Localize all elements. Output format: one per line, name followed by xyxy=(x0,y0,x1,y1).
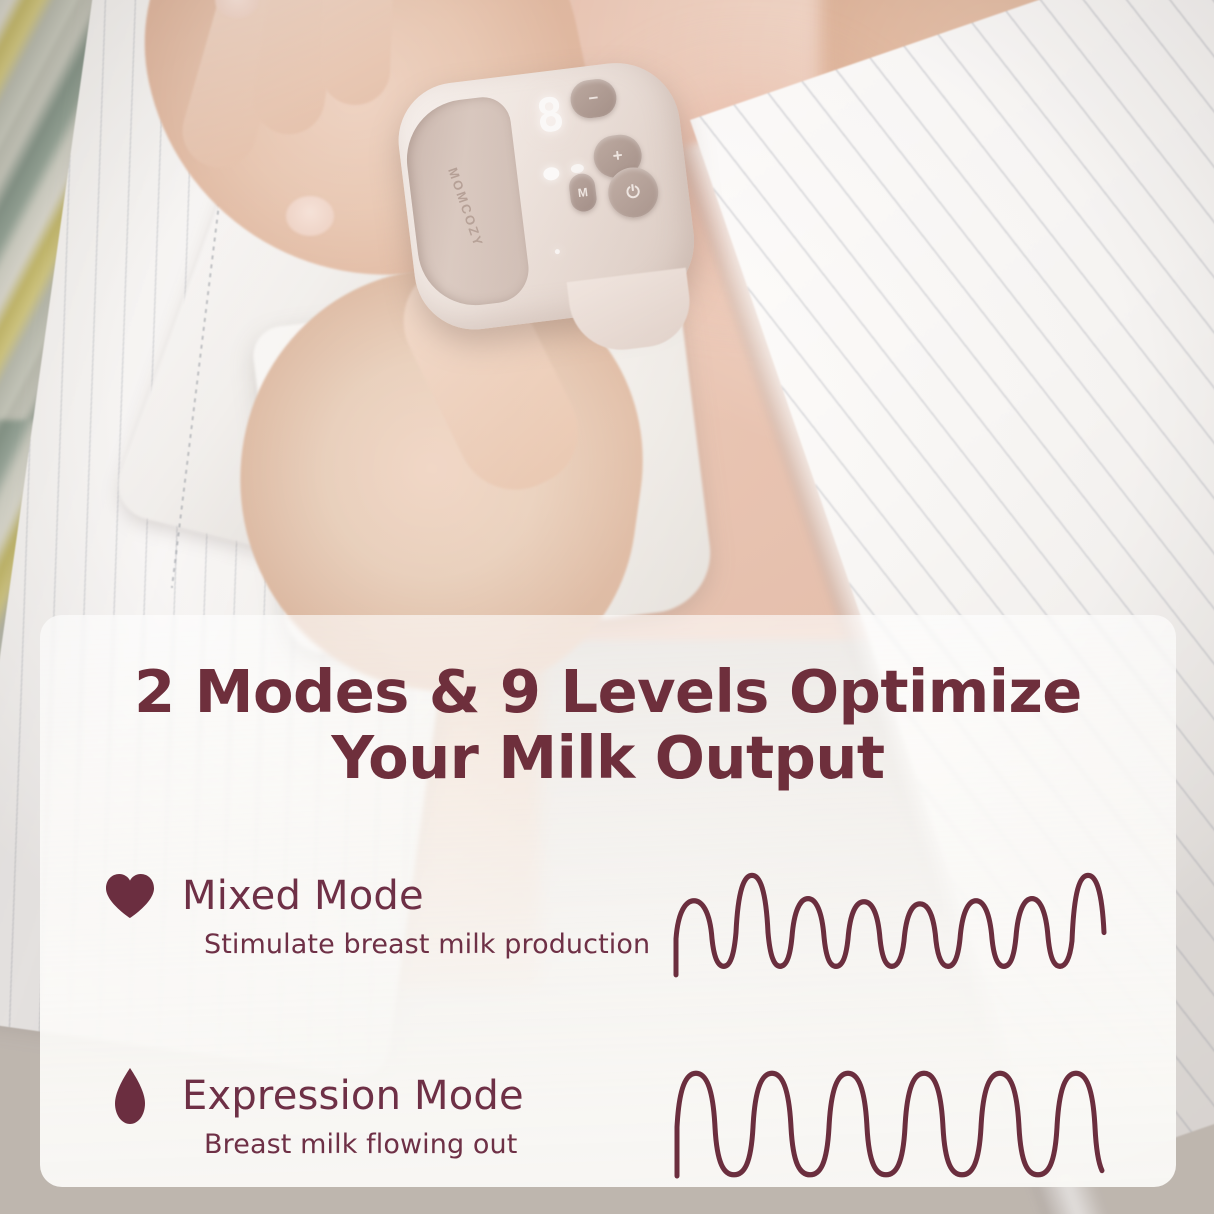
mode-title-expression: Expression Mode xyxy=(182,1073,524,1119)
pump-level-display: 8 xyxy=(525,87,575,144)
droplet-icon xyxy=(104,1067,156,1125)
mode-text-block-expression: Expression Mode Breast milk flowing out xyxy=(82,1065,682,1160)
feature-card: 2 Modes & 9 Levels Optimize Your Milk Ou… xyxy=(40,615,1176,1187)
mode-subtitle-expression: Breast milk flowing out xyxy=(204,1129,682,1160)
mixed-waveform xyxy=(674,869,1094,979)
mode-subtitle-mixed: Stimulate breast milk production xyxy=(204,929,682,960)
page-title: 2 Modes & 9 Levels Optimize Your Milk Ou… xyxy=(70,659,1146,791)
mode-row-expression: Expression Mode Breast milk flowing out xyxy=(40,1065,1176,1187)
mode-text-block-mixed: Mixed Mode Stimulate breast milk product… xyxy=(82,865,682,960)
wearable-breast-pump-device: MOMCOZY 8 − + M ⏻ xyxy=(392,56,702,337)
mode-title-mixed: Mixed Mode xyxy=(182,873,424,919)
modes-list: Mixed Mode Stimulate breast milk product… xyxy=(40,865,1176,1187)
mode-row-mixed: Mixed Mode Stimulate breast milk product… xyxy=(40,865,1176,1013)
expression-waveform xyxy=(674,1069,1094,1179)
finger xyxy=(319,0,395,106)
heart-icon xyxy=(104,873,156,919)
fingernail xyxy=(286,196,334,236)
product-feature-image: MOMCOZY 8 − + M ⏻ 2 Modes & 9 Levels Opt… xyxy=(0,0,1214,1214)
